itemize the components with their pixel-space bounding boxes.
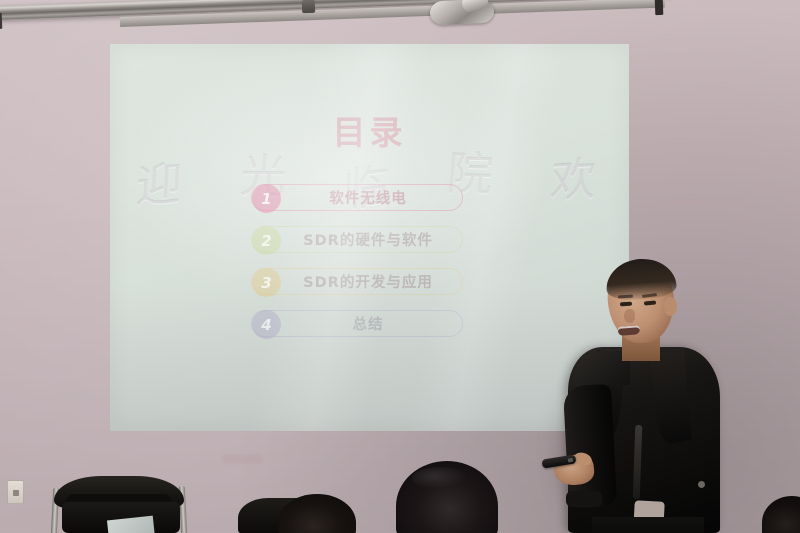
rail-end-cap-right (655, 0, 664, 15)
toc-badge-2: 2 (252, 226, 281, 255)
presenter-nose (624, 309, 635, 323)
wall-smudge (222, 455, 262, 463)
wall-power-socket[interactable] (7, 480, 24, 504)
toc-badge-3: 3 (252, 268, 281, 297)
rail-stopper-knob[interactable] (302, 0, 315, 13)
toc-label-1: 软件无线电 (252, 187, 462, 208)
slide-toc-list: 1 软件无线电 2 SDR的硬件与软件 3 SDR的开发与应用 4 总结 (251, 184, 463, 352)
black-classroom-chair[interactable] (40, 470, 200, 533)
toc-label-4: 总结 (252, 313, 462, 334)
presenter-arm (563, 384, 617, 508)
slide-title: 目录 (110, 106, 629, 154)
jacket-button (698, 481, 705, 488)
toc-item-1[interactable]: 1 软件无线电 (251, 184, 463, 211)
toc-badge-4: 4 (252, 310, 281, 339)
presenter-ear (664, 297, 677, 316)
toc-badge-1: 1 (252, 184, 281, 213)
toc-label-2: SDR的硬件与软件 (252, 229, 462, 250)
audience-head-center (396, 461, 498, 533)
toc-label-3: SDR的开发与应用 (252, 271, 462, 292)
lecture-room-photo: 迎 光 临 院 欢 目录 1 软件无线电 2 SDR的硬件与软件 3 SDR (0, 0, 800, 533)
presenter-trousers (592, 517, 704, 533)
presenter-hair (605, 257, 678, 302)
toc-item-3[interactable]: 3 SDR的开发与应用 (251, 268, 463, 295)
toc-item-2[interactable]: 2 SDR的硬件与软件 (251, 226, 463, 253)
presenter-person (530, 255, 760, 533)
jacket-cuff (566, 491, 602, 507)
presenter-eye-left (620, 302, 632, 307)
toc-item-4[interactable]: 4 总结 (251, 310, 463, 337)
audience-head-right (762, 496, 800, 533)
